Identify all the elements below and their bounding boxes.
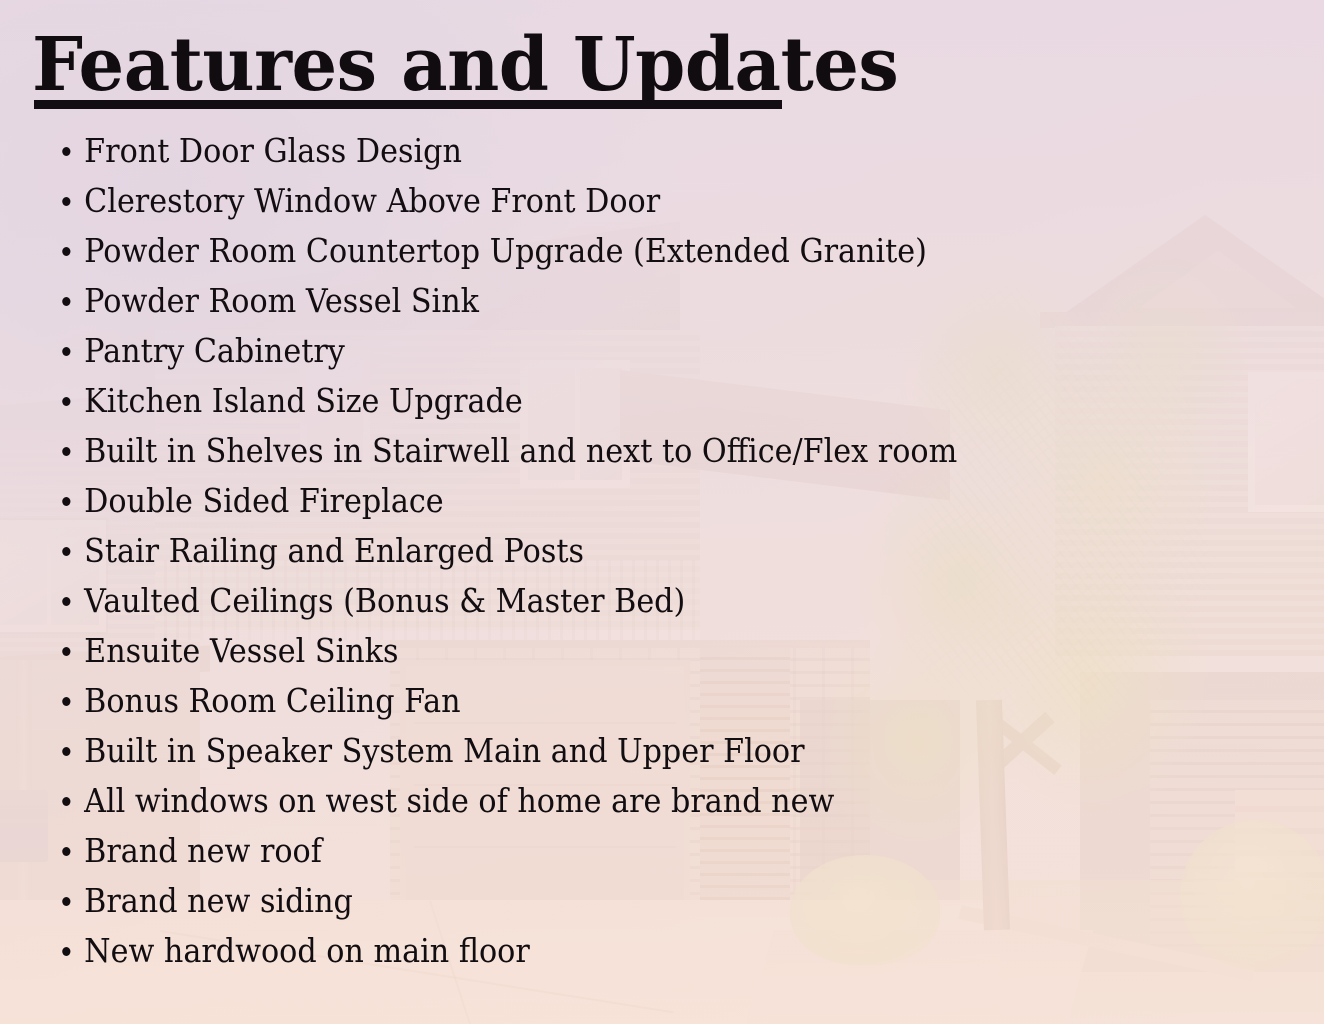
feature-list-item: All windows on west side of home are bra… <box>0 776 924 826</box>
feature-slide: Features and Updates Front Door Glass De… <box>0 0 1324 1024</box>
feature-list-item: Pantry Cabinetry <box>0 326 924 376</box>
feature-list-item: Brand new roof <box>0 826 924 876</box>
feature-list-item: Powder Room Countertop Upgrade (Extended… <box>0 226 924 276</box>
feature-list-item: Powder Room Vessel Sink <box>0 276 924 326</box>
feature-list-item: Front Door Glass Design <box>0 126 924 176</box>
feature-list-item: Double Sided Fireplace <box>0 476 924 526</box>
feature-list-item: Vaulted Ceilings (Bonus & Master Bed) <box>0 576 924 626</box>
title-underline <box>34 100 782 109</box>
feature-list-item: Built in Shelves in Stairwell and next t… <box>0 426 924 476</box>
slide-content: Features and Updates Front Door Glass De… <box>0 0 1324 1024</box>
feature-list-item: Clerestory Window Above Front Door <box>0 176 924 226</box>
feature-list-item: Bonus Room Ceiling Fan <box>0 676 924 726</box>
feature-list-item: New hardwood on main floor <box>0 926 924 976</box>
feature-list-item: Built in Speaker System Main and Upper F… <box>0 726 924 776</box>
feature-list-item: Brand new siding <box>0 876 924 926</box>
page-title: Features and Updates <box>32 26 898 104</box>
feature-list-item: Kitchen Island Size Upgrade <box>0 376 924 426</box>
feature-list-item: Stair Railing and Enlarged Posts <box>0 526 924 576</box>
feature-list: Front Door Glass DesignClerestory Window… <box>0 126 1010 976</box>
feature-list-item: Ensuite Vessel Sinks <box>0 626 924 676</box>
